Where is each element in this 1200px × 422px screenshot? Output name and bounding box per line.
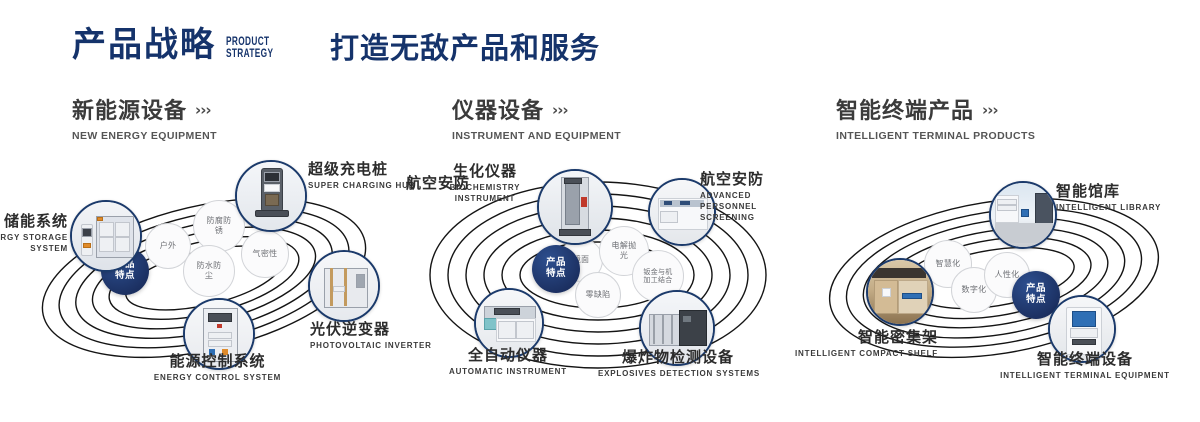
feature-label: 防腐防锈	[206, 216, 232, 236]
node-label-cn: 爆炸物检测设备	[598, 348, 758, 366]
feature-bubble: 气密性	[241, 230, 289, 278]
feature-label: 电解抛光	[611, 241, 637, 260]
chevron-right-icon: ›››	[982, 97, 998, 123]
label-intelligent-compact-shelf: 智能密集架 INTELLIGENT COMPACT SHELF	[778, 328, 938, 359]
brand-en-line2: STRATEGY	[226, 48, 273, 60]
node-label-en: INTELLIGENT COMPACT SHELF	[778, 348, 938, 359]
node-energy-storage-system[interactable]	[70, 200, 142, 272]
feature-label: 钣金与机加工结合	[640, 268, 676, 285]
feature-label: 智慧化	[936, 259, 961, 269]
core-label-line2: 特点	[115, 271, 135, 282]
section-title-instrument: 仪器设备››› INSTRUMENT AND EQUIPMENT	[452, 97, 621, 142]
section-title-intelligent-terminal: 智能终端产品››› INTELLIGENT TERMINAL PRODUCTS	[836, 97, 1035, 142]
label-energy-control-system: 能源控制系统 ENERGY CONTROL SYSTEM	[100, 352, 335, 383]
node-label-en: ENERGY CONTROL SYSTEM	[100, 372, 335, 383]
chevron-right-icon: ›››	[552, 97, 568, 123]
label-intelligent-terminal-equipment: 智能终端设备 INTELLIGENT TERMINAL EQUIPMENT	[990, 350, 1180, 381]
node-intelligent-compact-shelf[interactable]	[866, 258, 934, 326]
label-explosives-detection-systems: 爆炸物检测设备 EXPLOSIVES DETECTION SYSTEMS	[598, 348, 758, 379]
node-label-cn: 全自动仪器	[423, 346, 593, 364]
node-intelligent-library[interactable]	[989, 181, 1057, 249]
section2-title-en: INSTRUMENT AND EQUIPMENT	[452, 130, 621, 142]
label-advanced-personnel-screening: 航空安防 ADVANCED PERSONNEL SCREENING	[700, 170, 800, 223]
section1-title-en: NEW ENERGY EQUIPMENT	[72, 130, 217, 142]
core-bubble: 产品 特点	[532, 245, 580, 293]
node-label-cn: 智能密集架	[778, 328, 938, 346]
feature-label: 数字化	[962, 285, 987, 295]
core-label-line2: 特点	[546, 269, 566, 280]
label-energy-storage-system: 储能系统 ENERGY STORAGE SYSTEM	[0, 212, 68, 254]
feature-label: 气密性	[253, 249, 278, 259]
product-strategy-infographic: 产品战略 PRODUCT STRATEGY 打造无敌产品和服务 新能源设备›››…	[0, 0, 1200, 422]
node-label-en: INTELLIGENT TERMINAL EQUIPMENT	[990, 370, 1180, 381]
core-label-line2: 特点	[1026, 295, 1046, 306]
feature-label: 户外	[160, 241, 177, 251]
brand-title: 产品战略 PRODUCT STRATEGY	[72, 28, 292, 62]
node-label-en: INTELLIGENT LIBRARY	[1056, 202, 1161, 213]
node-label-cn: 能源控制系统	[100, 352, 335, 370]
node-photovoltaic-inverter[interactable]	[308, 250, 380, 322]
diagram-new-energy: 户外 防腐防锈 气密性 防水防尘 产品 特点	[8, 150, 408, 415]
feature-label: 零缺陷	[586, 290, 611, 300]
feature-label: 防水防尘	[196, 261, 222, 280]
node-label-cn: 航空安防	[700, 170, 800, 188]
brand-title-en: PRODUCT STRATEGY	[226, 37, 273, 60]
label-aviation-security: 航空安防	[406, 174, 470, 192]
section3-title-en: INTELLIGENT TERMINAL PRODUCTS	[836, 130, 1035, 142]
section3-title-cn: 智能终端产品	[836, 99, 974, 124]
feature-label: 人性化	[995, 270, 1020, 280]
node-label-en: ENERGY STORAGE SYSTEM	[0, 232, 68, 254]
section-title-new-energy: 新能源设备››› NEW ENERGY EQUIPMENT	[72, 97, 217, 142]
feature-bubble: 零缺陷	[575, 272, 621, 318]
node-super-charging-hub[interactable]	[235, 160, 307, 232]
node-label-cn: 智能馆库	[1056, 182, 1161, 200]
brand-title-cn: 产品战略	[72, 28, 216, 62]
feature-bubble: 防水防尘	[183, 245, 235, 297]
chevron-right-icon: ›››	[195, 97, 211, 123]
brand-en-line1: PRODUCT	[226, 36, 269, 48]
node-label-en: ADVANCED PERSONNEL SCREENING	[700, 190, 800, 223]
section1-title-cn: 新能源设备	[72, 99, 187, 124]
node-label-en: AUTOMATIC INSTRUMENT	[423, 366, 593, 377]
diagram-instrument: 镜面 电解抛光 钣金与机加工结合 零缺陷 产品 特点 生化仪器	[398, 150, 798, 415]
node-label-cn: 航空安防	[406, 174, 470, 192]
node-label-en: EXPLOSIVES DETECTION SYSTEMS	[598, 368, 758, 379]
diagram-intelligent-terminal: 智慧化 数字化 人性化 产品 特点 智能馆库 INTELLIGENT	[798, 150, 1198, 415]
section2-title-cn: 仪器设备	[452, 99, 544, 124]
node-label-cn: 智能终端设备	[990, 350, 1180, 368]
headline: 打造无敌产品和服务	[330, 33, 600, 65]
label-automatic-instrument: 全自动仪器 AUTOMATIC INSTRUMENT	[423, 346, 593, 377]
node-label-cn: 储能系统	[0, 212, 68, 230]
label-intelligent-library: 智能馆库 INTELLIGENT LIBRARY	[1056, 182, 1161, 213]
